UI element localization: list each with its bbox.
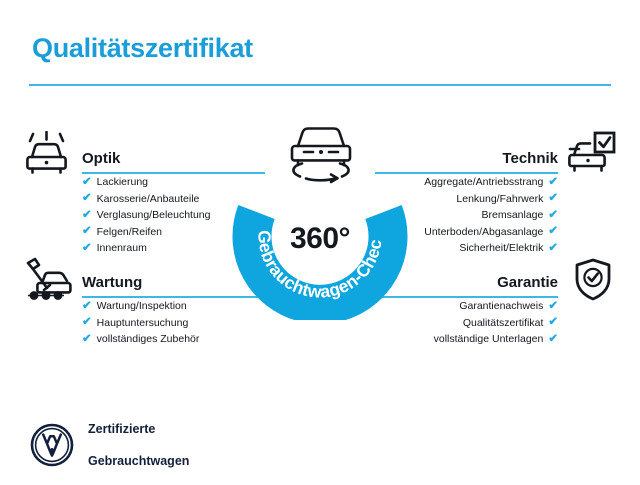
- footer-text: Zertifizierte Gebrauchtwagen: [88, 405, 189, 485]
- check-icon: ✔: [82, 243, 92, 255]
- vw-logo: [30, 423, 74, 467]
- list-item-label: Unterboden/Abgasanlage: [424, 224, 543, 241]
- list-item-label: Hauptuntersuchung: [97, 315, 189, 332]
- list-item-label: Lenkung/Fahrwerk: [456, 191, 543, 208]
- list-item-label: Lackierung: [97, 174, 148, 191]
- check-icon: ✔: [82, 301, 92, 313]
- list-item-label: Verglasung/Beleuchtung: [97, 207, 211, 224]
- section-title-garantie: Garantie: [497, 274, 558, 291]
- list-item-label: Felgen/Reifen: [97, 224, 162, 241]
- title-divider: [29, 84, 611, 86]
- car-rotate-icon: [280, 120, 362, 188]
- list-item-label: vollständiges Zubehör: [97, 331, 200, 348]
- page-title: Qualitätszertifikat: [32, 33, 253, 64]
- car-checkbox-icon: [568, 131, 616, 180]
- footer-line-1: Zertifizierte: [88, 421, 189, 437]
- check-icon: ✔: [82, 317, 92, 329]
- list-item-label: vollständige Unterlagen: [434, 331, 544, 348]
- list-item-label: Innenraum: [97, 240, 147, 257]
- list-item-label: Qualitätszertifikat: [463, 315, 544, 332]
- section-title-wartung: Wartung: [82, 274, 142, 291]
- badge-center-label: 360°: [232, 222, 408, 256]
- check-icon: ✔: [548, 210, 558, 222]
- check-icon: ✔: [82, 177, 92, 189]
- certificate-page: Qualitätszertifikat: [0, 0, 640, 480]
- section-title-technik: Technik: [502, 150, 558, 167]
- check-icon: ✔: [548, 317, 558, 329]
- footer-brand: Zertifizierte Gebrauchtwagen: [30, 405, 189, 485]
- footer-line-2: Gebrauchtwagen: [88, 453, 189, 469]
- section-title-optik: Optik: [82, 150, 120, 167]
- check-icon: ✔: [548, 226, 558, 238]
- shield-check-icon: [574, 258, 612, 307]
- check-icon: ✔: [82, 226, 92, 238]
- check-icon: ✔: [82, 193, 92, 205]
- list-item: ✔vollständiges Zubehör: [82, 331, 265, 348]
- car-polish-icon: [24, 131, 70, 180]
- list-item-label: Aggregate/Antriebsstrang: [424, 174, 543, 191]
- badge-360-gebrauchtwagen-check: Gebrauchtwagen-Check 360°: [232, 120, 408, 320]
- list-item-label: Garantienachweis: [459, 298, 543, 315]
- check-icon: ✔: [82, 210, 92, 222]
- list-item-label: Sicherheit/Elektrik: [459, 240, 543, 257]
- wrench-car-icon: [22, 257, 74, 308]
- check-icon: ✔: [548, 334, 558, 346]
- check-icon: ✔: [548, 177, 558, 189]
- check-icon: ✔: [548, 301, 558, 313]
- check-icon: ✔: [548, 243, 558, 255]
- list-item-label: Bremsanlage: [481, 207, 543, 224]
- check-icon: ✔: [82, 334, 92, 346]
- list-item: vollständige Unterlagen✔: [375, 331, 558, 348]
- list-item-label: Karosserie/Anbauteile: [97, 191, 200, 208]
- check-icon: ✔: [548, 193, 558, 205]
- list-item-label: Wartung/Inspektion: [97, 298, 187, 315]
